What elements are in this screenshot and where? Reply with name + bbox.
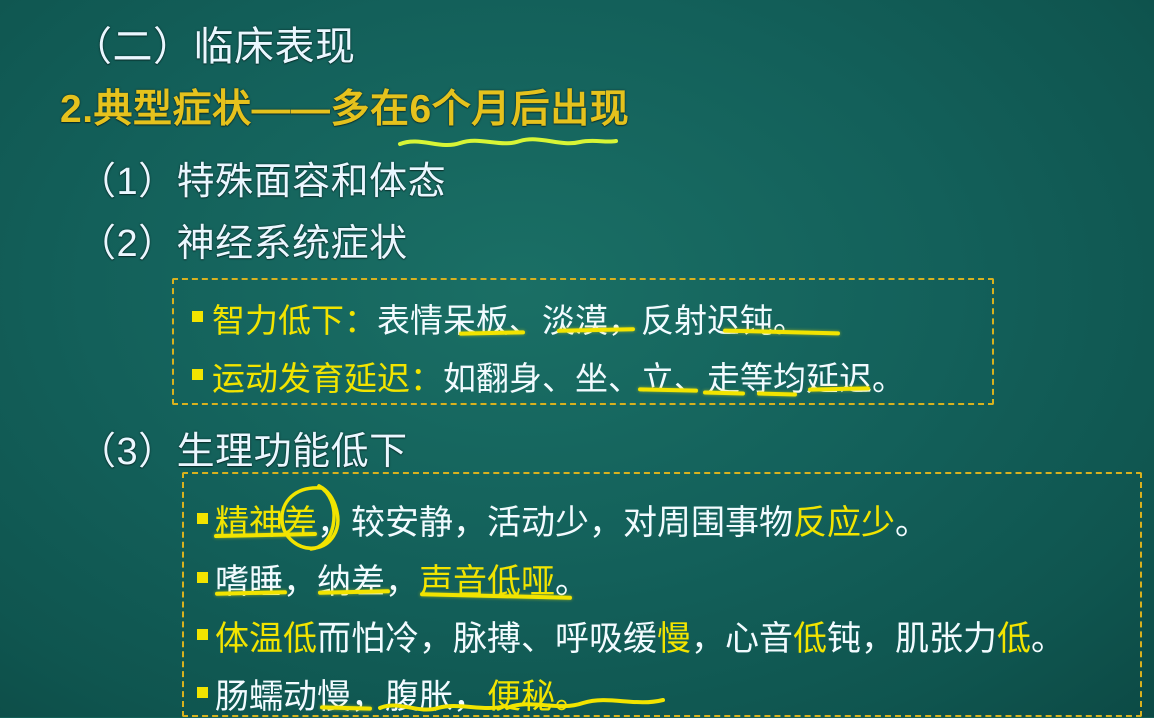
box1-item-1: 智力低下：表情呆板、淡漠，反射迟钝。 — [212, 294, 806, 342]
box2-item-1-seg-3: 。 — [895, 504, 929, 542]
box2-item-3-seg-2: 慢 — [657, 620, 691, 658]
box2-item-3-seg-0: 体温低 — [215, 620, 317, 658]
box1-item-2-seg-0: 运动发育延迟： — [212, 360, 443, 397]
subsection-heading: 2.典型症状——多在6个月后出现 — [60, 78, 629, 134]
box2-item-3-seg-4: 低 — [793, 620, 827, 658]
square-bullet-icon — [192, 311, 203, 322]
box2-item-3-seg-6: 低 — [997, 620, 1031, 658]
square-bullet-icon — [197, 513, 208, 524]
box2-item-3-seg-1: 而怕冷，脉搏、呼吸缓 — [317, 620, 657, 658]
box1-item-1-seg-1: 表情呆板、淡漠，反射迟钝。 — [377, 302, 806, 339]
point-1-label: （1）特殊面容和体态 — [78, 150, 446, 205]
slide-content: （二）临床表现 2.典型症状——多在6个月后出现 （1）特殊面容和体态 （2）神… — [0, 0, 1154, 717]
square-bullet-icon — [197, 629, 208, 640]
box2-item-4-seg-0: 肠蠕动慢，腹胀， — [215, 678, 487, 716]
box2-item-4-seg-1: 便秘。 — [487, 678, 589, 716]
box2-item-4: 肠蠕动慢，腹胀，便秘。 — [215, 669, 589, 718]
box1-item-1-seg-0: 智力低下： — [212, 302, 377, 339]
square-bullet-icon — [197, 572, 208, 583]
section-heading: （二）临床表现 — [72, 14, 356, 72]
box2-item-3-seg-3: ，心音 — [691, 620, 793, 658]
box2-item-3: 体温低而怕冷，脉搏、呼吸缓慢，心音低钝，肌张力低。 — [215, 611, 1065, 660]
point-2-label: （2）神经系统症状 — [78, 212, 408, 267]
box2-item-3-seg-7: 。 — [1031, 620, 1065, 658]
box2-item-1: 精神差，较安静，活动少，对周围事物反应少。 — [215, 495, 929, 544]
box2-item-3-seg-5: 钝，肌张力 — [827, 620, 997, 658]
box1-item-2: 运动发育延迟：如翻身、坐、立、走等均延迟。 — [212, 352, 905, 400]
box2-item-2-seg-0: 嗜睡，纳差， — [215, 563, 419, 601]
square-bullet-icon — [197, 687, 208, 698]
box2-item-1-seg-2: 反应少 — [793, 504, 895, 542]
square-bullet-icon — [192, 369, 203, 380]
point-3-label: （3）生理功能低下 — [78, 420, 408, 475]
box2-item-1-seg-1: ，较安静，活动少，对周围事物 — [317, 504, 793, 542]
